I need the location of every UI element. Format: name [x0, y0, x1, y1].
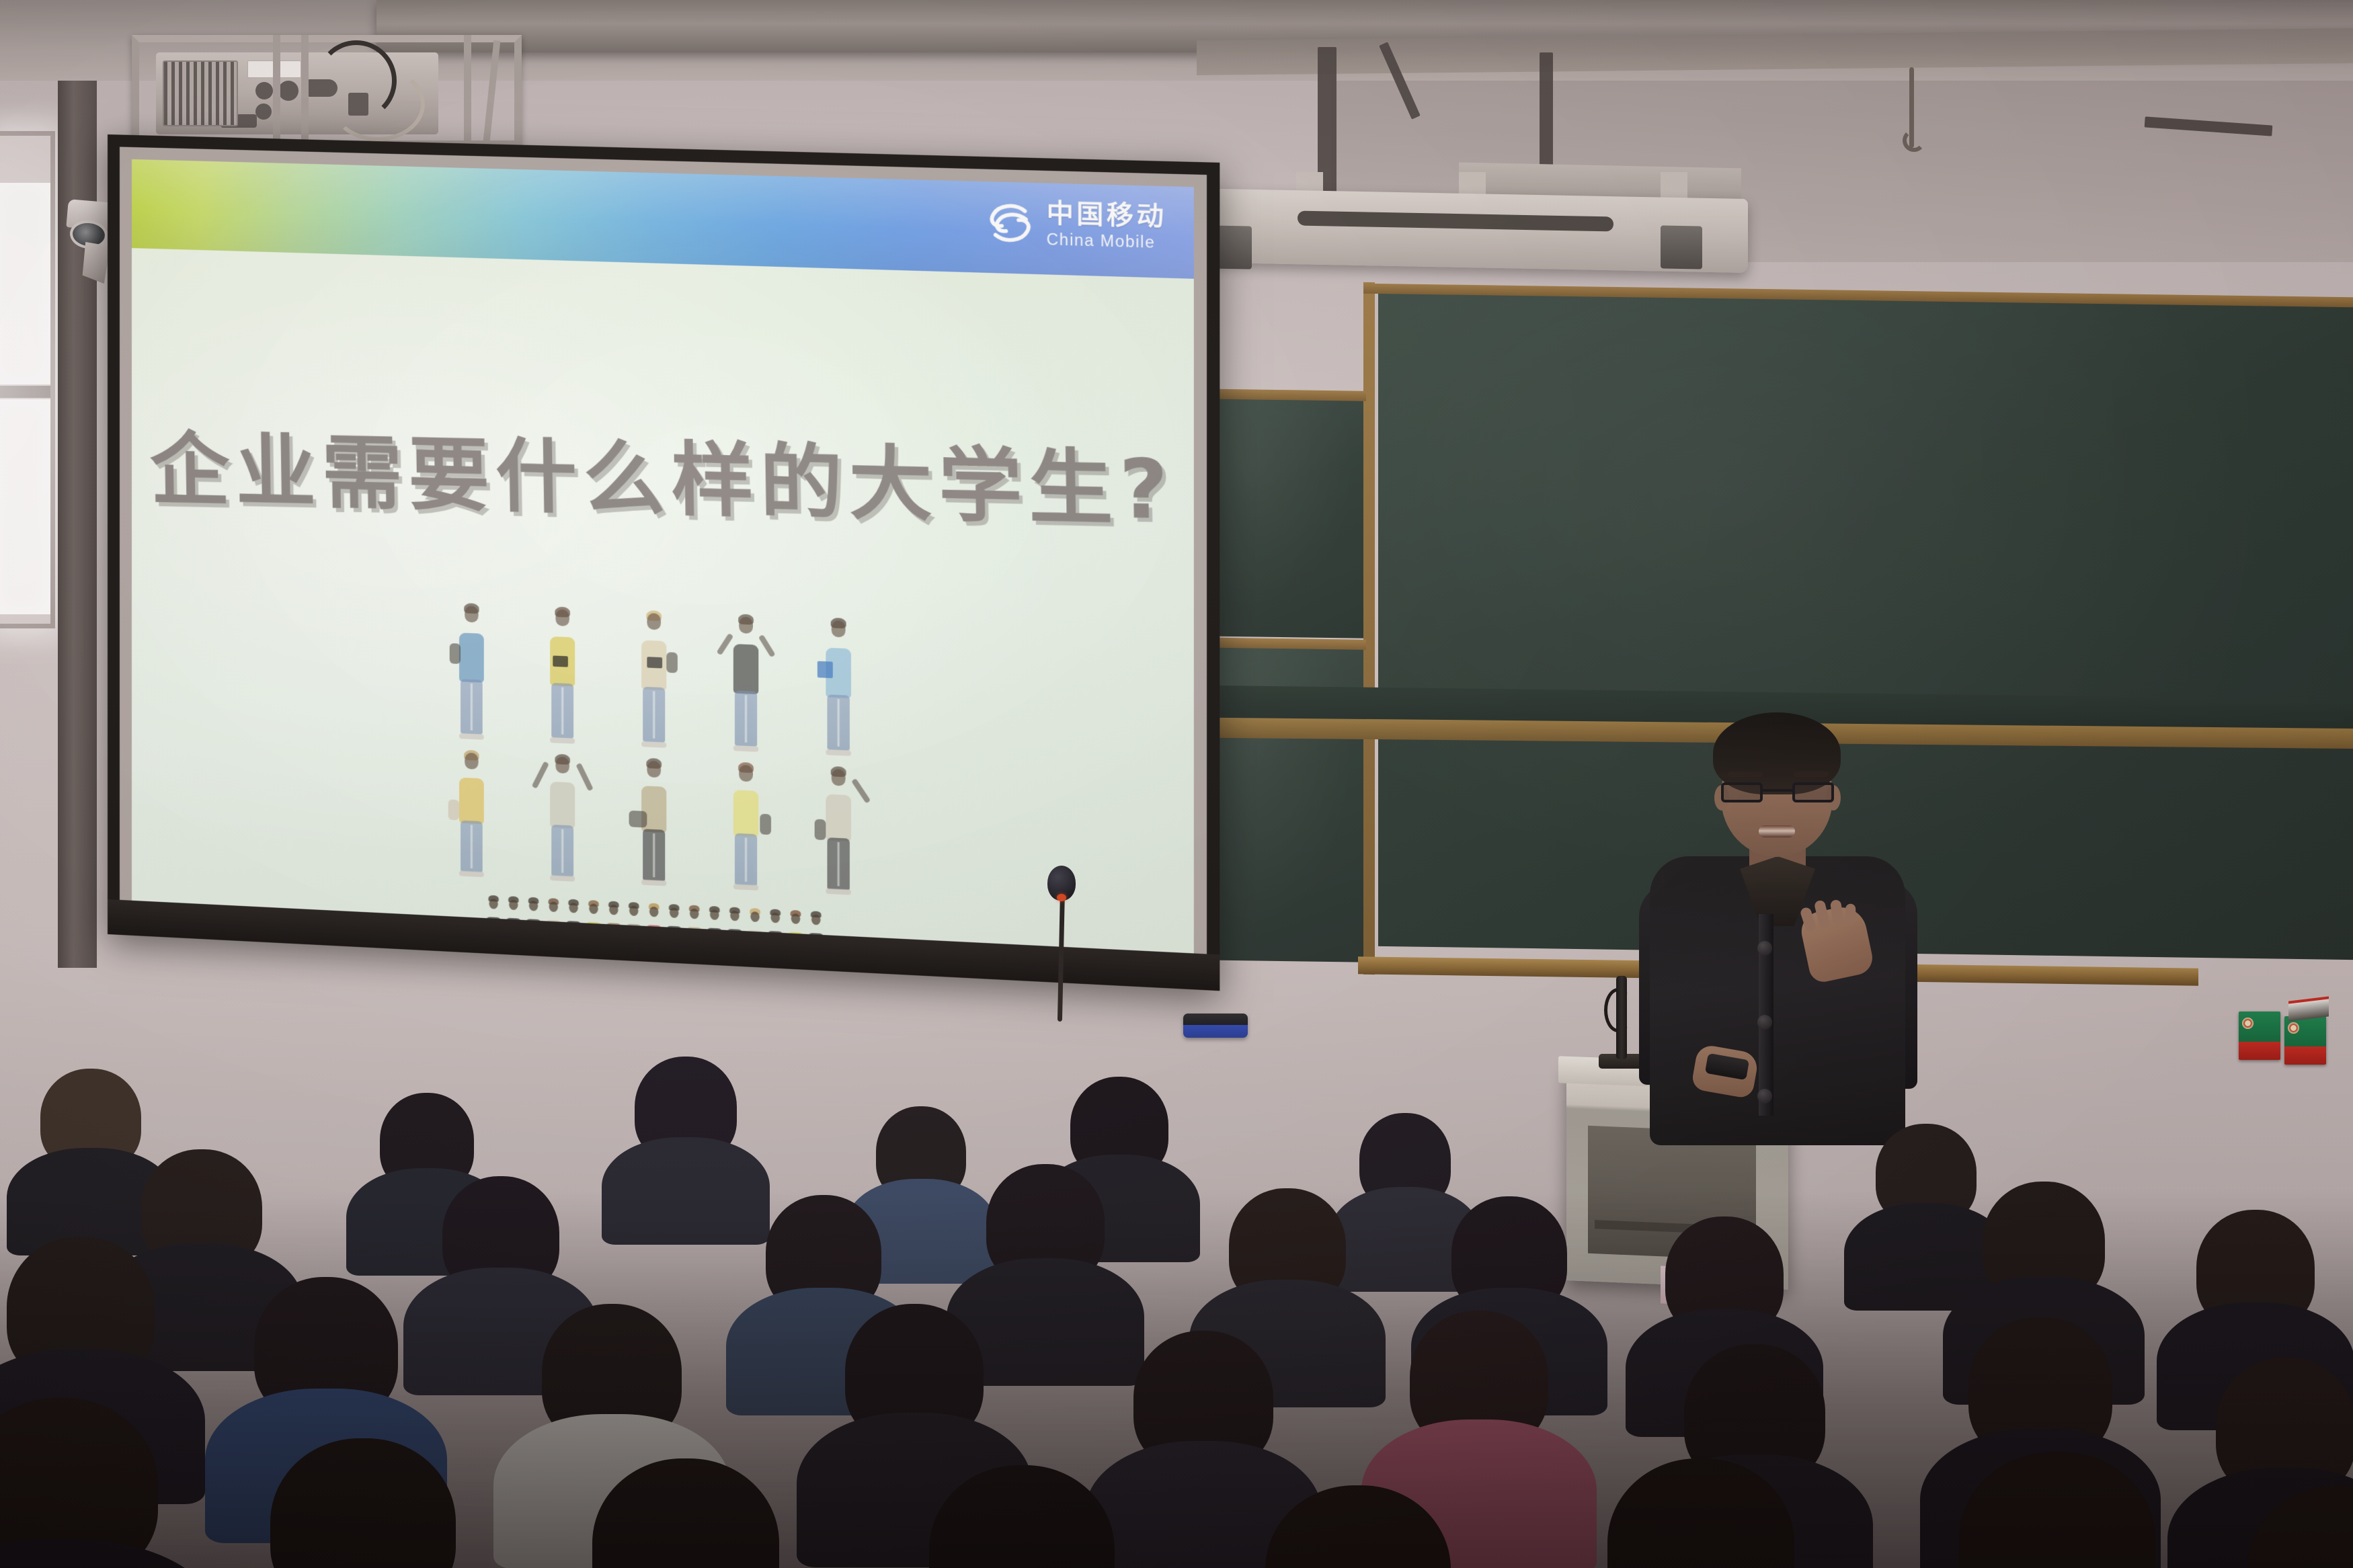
slide-title: 企业需要什么样的大学生?	[132, 404, 1194, 542]
student-figure	[813, 617, 864, 757]
cage-bar-v2	[301, 35, 309, 148]
student-figure	[538, 753, 588, 882]
projection-screen: 中国移动 China Mobile 企业需要什么样的大学生?	[108, 134, 1220, 991]
projector-cable-2	[331, 67, 425, 141]
audience-member	[1224, 1485, 1492, 1568]
student-figure	[721, 613, 771, 752]
student-figure	[447, 602, 497, 740]
audience-member	[229, 1438, 497, 1568]
audience-member	[2205, 1485, 2353, 1568]
window-mullion	[0, 386, 50, 398]
audience-member	[1916, 1452, 2198, 1568]
figure-row-middle	[447, 749, 864, 895]
audience-member	[1566, 1458, 1835, 1568]
student-figure	[629, 757, 679, 887]
ac-vent-right	[1661, 225, 1702, 269]
window-pane-upper	[0, 183, 50, 384]
lecture-hall-photo: 中国移动 China Mobile 企业需要什么样的大学生?	[0, 0, 2353, 1568]
brand-name-en: China Mobile	[1047, 232, 1167, 251]
china-mobile-logo-icon	[984, 197, 1037, 249]
cage-bar-v3	[464, 35, 471, 148]
microphone-led-indicator	[1057, 894, 1066, 901]
student-figure	[447, 749, 497, 878]
brand-name-cn: 中国移动	[1047, 200, 1167, 230]
presenter-brow-left	[1728, 772, 1763, 777]
student-figure-collage	[447, 602, 864, 953]
slide-surface: 中国移动 China Mobile 企业需要什么样的大学生?	[132, 159, 1194, 954]
audience-member	[612, 1057, 760, 1225]
audience-member	[551, 1458, 820, 1568]
ceiling-hook-icon	[1909, 67, 1914, 148]
student-figure	[538, 606, 588, 745]
window-pane-lower	[0, 399, 50, 614]
china-mobile-wordmark: 中国移动 China Mobile	[1047, 200, 1167, 251]
student-figure	[721, 761, 771, 891]
figure-row-top	[447, 602, 864, 757]
student-figure	[629, 610, 679, 749]
audience-member	[887, 1465, 1156, 1568]
cage-bar-v1	[273, 35, 280, 148]
presenter-mouth	[1759, 825, 1795, 837]
eyeglasses-icon	[1721, 782, 1834, 802]
audience	[0, 927, 2353, 1568]
window	[0, 131, 55, 628]
student-figure	[813, 766, 864, 896]
presenter-brow-right	[1794, 772, 1829, 777]
china-mobile-logo: 中国移动 China Mobile	[984, 197, 1167, 253]
audience-member	[0, 1398, 202, 1568]
blackboard-frame-vertical	[1363, 282, 1375, 975]
